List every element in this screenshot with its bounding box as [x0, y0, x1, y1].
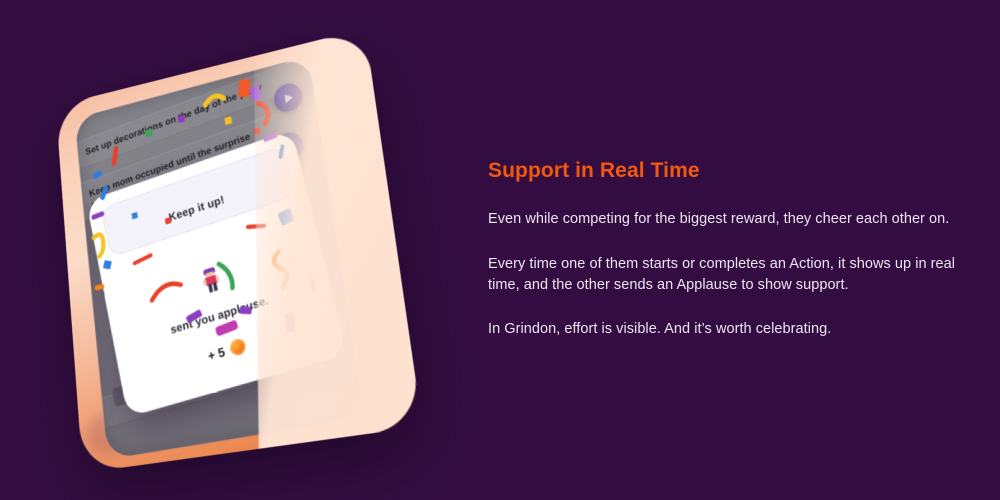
phone-screen: Set up decorations on the day of the par…	[75, 56, 364, 459]
applause-subtitle: sent you applause.	[113, 276, 331, 354]
copy-column: Support in Real Time Even while competin…	[488, 0, 1000, 500]
play-icon	[282, 91, 294, 105]
body-paragraph: In Grindon, effort is visible. And it’s …	[488, 319, 984, 340]
play-icon	[283, 140, 296, 154]
page-title: Support in Real Time	[488, 159, 984, 183]
phone-mockup-stage: Set up decorations on the day of the par…	[0, 0, 480, 500]
keep-it-up-pill: Keep it up!	[101, 145, 296, 257]
phone-frame: Set up decorations on the day of the par…	[56, 28, 423, 473]
phone-device: Set up decorations on the day of the par…	[56, 28, 423, 473]
reward-row: + 5	[120, 309, 341, 389]
slide-root: Set up decorations on the day of the par…	[0, 0, 1000, 500]
reward-amount: + 5	[207, 344, 227, 363]
avatar-icon	[198, 264, 225, 297]
body-paragraph: Every time one of them starts or complet…	[488, 254, 984, 297]
case-shadow-blob-2	[272, 399, 312, 438]
coin-icon	[229, 337, 247, 357]
pill-label: Keep it up!	[168, 194, 226, 224]
body-paragraph: Even while competing for the biggest rew…	[488, 209, 984, 230]
